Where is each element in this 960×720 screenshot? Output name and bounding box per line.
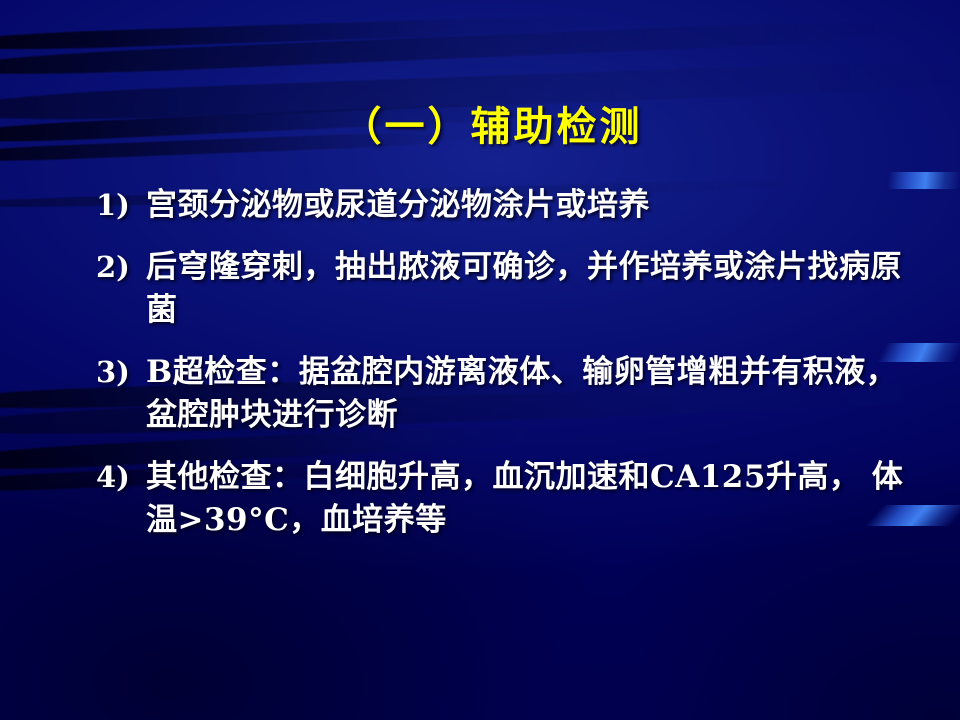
slide-title: （一）辅助检测	[0, 94, 960, 152]
list-item: 1) 宫颈分泌物或尿道分泌物涂片或培养	[96, 184, 916, 227]
list-item-marker: 2)	[96, 246, 146, 289]
list-item: 4) 其他检查：白细胞升高，血沉加速和CA125升高， 体温>39°C，血培养等	[96, 456, 916, 542]
slide-content: （一）辅助检测 1) 宫颈分泌物或尿道分泌物涂片或培养 2) 后穹隆穿刺，抽出脓…	[0, 0, 960, 720]
list-item-label: B超检查：据盆腔内游离液体、输卵管增粗并有积液，盆腔肿块进行诊断	[146, 351, 916, 437]
list-item: 3) B超检查：据盆腔内游离液体、输卵管增粗并有积液，盆腔肿块进行诊断	[96, 351, 916, 437]
list-item-label: 宫颈分泌物或尿道分泌物涂片或培养	[146, 184, 916, 227]
bullet-list: 1) 宫颈分泌物或尿道分泌物涂片或培养 2) 后穹隆穿刺，抽出脓液可确诊，并作培…	[96, 184, 916, 561]
list-item-label: 后穹隆穿刺，抽出脓液可确诊，并作培养或涂片找病原菌	[146, 246, 916, 332]
list-item-label: 其他检查：白细胞升高，血沉加速和CA125升高， 体温>39°C，血培养等	[146, 456, 916, 542]
list-item-marker: 3)	[96, 351, 146, 394]
list-item-marker: 4)	[96, 456, 146, 499]
list-item-marker: 1)	[96, 184, 146, 227]
list-item: 2) 后穹隆穿刺，抽出脓液可确诊，并作培养或涂片找病原菌	[96, 246, 916, 332]
presentation-slide: （一）辅助检测 1) 宫颈分泌物或尿道分泌物涂片或培养 2) 后穹隆穿刺，抽出脓…	[0, 0, 960, 720]
